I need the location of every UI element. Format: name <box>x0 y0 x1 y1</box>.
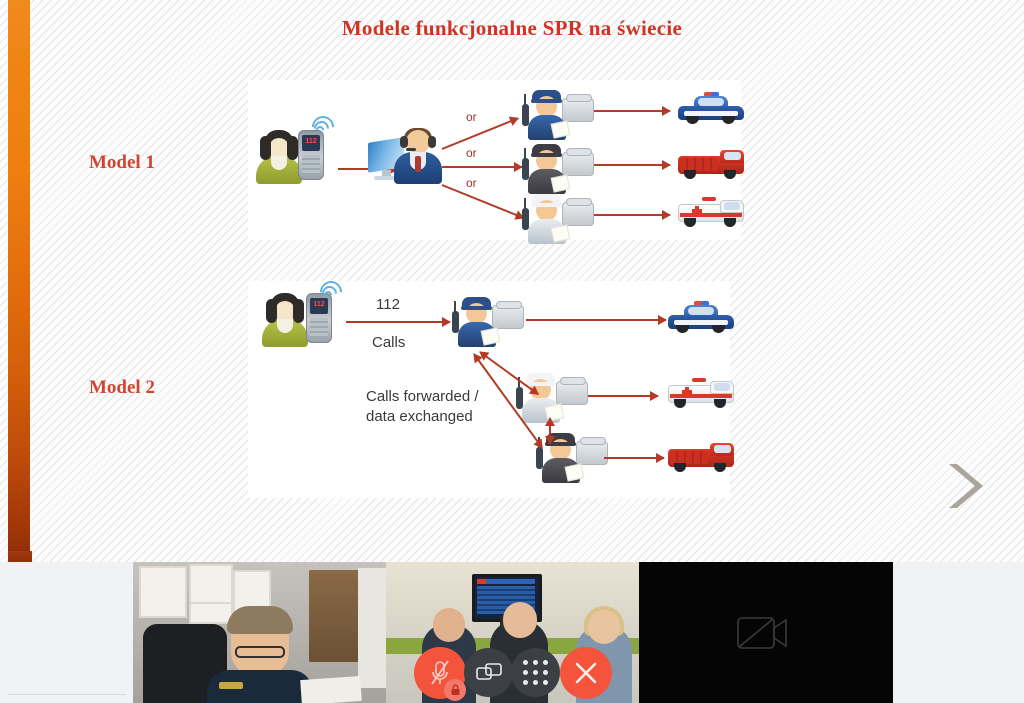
medical-dispatcher-icon <box>522 192 596 244</box>
share-screen-button[interactable] <box>464 648 513 697</box>
caller-person-icon <box>256 130 302 184</box>
police-dispatcher-icon <box>522 88 596 140</box>
wall-picture <box>189 564 233 604</box>
branch-label-1: or <box>466 110 477 124</box>
police-car-icon <box>678 94 744 124</box>
close-icon <box>573 660 599 686</box>
model-1-label: Model 1 <box>89 152 155 174</box>
model-2-label: Model 2 <box>89 377 155 399</box>
divider <box>8 694 126 695</box>
branch-label-3: or <box>466 176 477 190</box>
page-title: Modele funkcjonalne SPR na świecie <box>0 16 1024 41</box>
slide-accent-bar <box>8 0 30 562</box>
forwarded-label-line1: Calls forwarded / <box>366 387 479 406</box>
caller-person-icon <box>262 293 308 347</box>
branch-arrow-3 <box>442 184 524 219</box>
arrow-police-to-car <box>594 110 670 112</box>
medical-dispatcher-icon <box>516 371 590 423</box>
forwarded-label-line2: data exchanged <box>366 407 473 426</box>
chevron-right-icon[interactable] <box>941 462 983 510</box>
arrow-police-to-car <box>526 319 666 321</box>
lock-icon <box>444 679 466 701</box>
arrow-medic-to-ambulance <box>594 214 670 216</box>
screen-share-icon <box>476 662 502 684</box>
call-center-operator-icon <box>392 128 444 184</box>
paper-on-desk <box>300 676 362 703</box>
arrow-medic-to-ambulance <box>588 395 658 397</box>
fire-dispatcher-icon <box>522 142 596 194</box>
door <box>358 568 386 688</box>
calls-label: Calls <box>372 333 405 352</box>
arrow-caller-to-dispatcher <box>346 321 450 323</box>
calls-number-label: 112 <box>376 295 400 314</box>
video-tile-participant-1[interactable] <box>133 562 386 703</box>
signal-waves-icon <box>314 114 336 134</box>
branch-arrow-1 <box>442 117 519 150</box>
phone-screen-number: 112 <box>302 138 320 146</box>
participant-uniformed-man <box>205 610 315 703</box>
end-call-button[interactable] <box>560 647 612 699</box>
police-car-icon <box>668 303 734 333</box>
arrow-fire-to-truck <box>594 164 670 166</box>
fire-truck-icon <box>678 148 744 180</box>
camera-off-icon <box>737 614 795 652</box>
ambulance-icon <box>668 379 734 410</box>
video-tile-participant-3[interactable] <box>639 562 893 703</box>
branch-arrow-2 <box>442 166 522 168</box>
dialpad-button[interactable] <box>511 648 560 697</box>
exchange-arrow-medic-fire <box>549 418 551 444</box>
arrow-fire-to-truck <box>604 457 664 459</box>
model-1-diagram: 112 or or or <box>248 80 741 240</box>
model-2-diagram: 112 112 Calls Calls forwarded / data exc… <box>248 281 730 498</box>
police-dispatcher-icon <box>452 295 526 347</box>
wall-picture <box>139 566 187 618</box>
dialpad-icon <box>523 660 548 685</box>
ambulance-icon <box>678 198 744 229</box>
signal-waves-icon <box>322 279 344 299</box>
presentation-slide: Modele funkcjonalne SPR na świecie Model… <box>0 0 1024 562</box>
fire-truck-icon <box>668 441 734 473</box>
branch-label-2: or <box>466 146 477 160</box>
